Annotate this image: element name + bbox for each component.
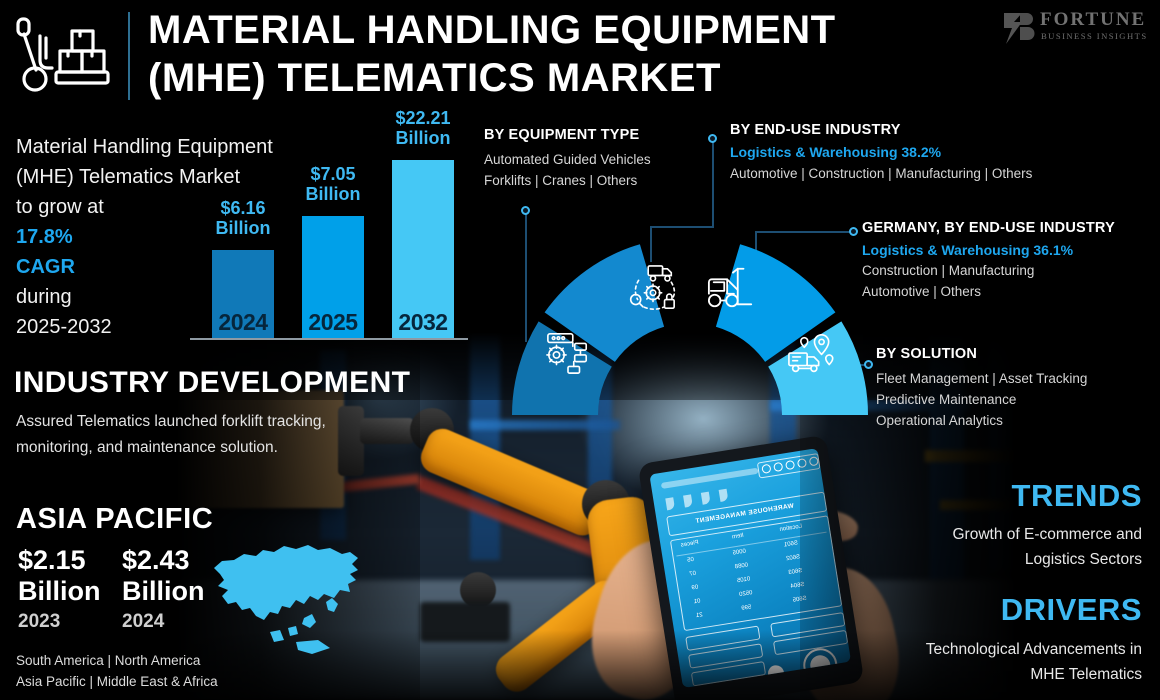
industry-development-body: Assured Telematics launched forklift tra… <box>16 409 396 461</box>
trends-line1: Growth of E-commerce and <box>812 522 1142 547</box>
end-use-leader: Logistics & Warehousing 38.2% <box>730 144 1150 160</box>
trends-line2: Logistics Sectors <box>812 547 1142 572</box>
logo-name: FORTUNE <box>1040 9 1146 31</box>
callout-end-use-industry: BY END-USE INDUSTRY Logistics & Warehous… <box>730 122 1150 184</box>
drivers-line1: Technological Advancements in <box>812 637 1142 662</box>
germany-line1: Construction | Manufacturing <box>862 260 1158 281</box>
solution-line3: Operational Analytics <box>876 410 1156 431</box>
trends-heading: TRENDS <box>1012 478 1142 514</box>
drivers-heading: DRIVERS <box>1001 592 1142 628</box>
segment-arc-graphic <box>495 225 885 425</box>
page-title-line2: (MHE) TELEMATICS MARKET <box>148 54 908 102</box>
asia-pacific-stat-2023: $2.15 Billion <box>18 545 101 607</box>
ap-2023-year: 2023 <box>18 611 60 633</box>
drivers-line2: MHE Telematics <box>812 662 1142 687</box>
regions-line1: South America | North America <box>16 650 218 671</box>
solution-line1: Fleet Management | Asset Tracking <box>876 368 1156 389</box>
ap-2024-amount: $2.43 <box>122 545 205 576</box>
ap-2023-unit: Billion <box>18 576 101 607</box>
solution-line2: Predictive Maintenance <box>876 389 1156 410</box>
page-title-line1: MATERIAL HANDLING EQUIPMENT <box>148 6 908 54</box>
end-use-heading: BY END-USE INDUSTRY <box>730 122 1150 138</box>
germany-heading: GERMANY, BY END-USE INDUSTRY <box>862 220 1158 236</box>
bar-2025: $7.05 Billion 2025 <box>302 216 364 338</box>
callout-germany-end-use: GERMANY, BY END-USE INDUSTRY Logistics &… <box>862 220 1158 302</box>
ap-2024-unit: Billion <box>122 576 205 607</box>
drivers-body: Technological Advancements in MHE Telema… <box>812 637 1142 687</box>
regions-line2: Asia Pacific | Middle East & Africa <box>16 671 218 692</box>
equipment-type-line2: Forklifts | Cranes | Others <box>484 170 714 191</box>
germany-line2: Automotive | Others <box>862 281 1158 302</box>
callout-equipment-type: BY EQUIPMENT TYPE Automated Guided Vehic… <box>484 127 714 191</box>
bar-2024-unit: Billion <box>216 218 271 238</box>
end-use-others: Automotive | Construction | Manufacturin… <box>730 163 1150 184</box>
solution-heading: BY SOLUTION <box>876 346 1156 362</box>
bar-2032: $22.21 Billion 2032 <box>392 160 454 338</box>
asia-pacific-stat-2024: $2.43 Billion <box>122 545 205 607</box>
market-size-bar-chart: $6.16 Billion 2024 $7.05 Billion 2025 $2… <box>190 140 468 340</box>
ap-2024-year: 2024 <box>122 611 164 633</box>
logo-subtitle: BUSINESS INSIGHTS <box>1041 31 1148 41</box>
truck-monitoring-gear-icon <box>627 263 679 318</box>
asia-pacific-heading: ASIA PACIFIC <box>16 503 213 536</box>
infographic-canvas: WAREHOUSE MANAGEMENT Pieces Item Locatio… <box>0 0 1160 700</box>
chart-axis-line <box>190 338 468 340</box>
bar-2032-year: 2032 <box>398 309 447 336</box>
bar-2025-year: 2025 <box>308 309 357 336</box>
industry-development-line1: Assured Telematics launched forklift tra… <box>16 409 396 435</box>
bar-2024-year: 2024 <box>218 309 267 336</box>
asia-pacific-regions: South America | North America Asia Pacif… <box>16 650 218 692</box>
bar-2032-amount: $22.21 <box>395 108 450 128</box>
germany-leader: Logistics & Warehousing 36.1% <box>862 242 1158 258</box>
asia-map-silhouette <box>200 528 380 658</box>
delivery-tracking-location-icon <box>785 330 837 383</box>
callout-solution: BY SOLUTION Fleet Management | Asset Tra… <box>876 346 1156 431</box>
bar-2024: $6.16 Billion 2024 <box>212 250 274 338</box>
trends-body: Growth of E-commerce and Logistics Secto… <box>812 522 1142 572</box>
fortune-business-insights-logo: FORTUNE BUSINESS INSIGHTS <box>998 8 1150 50</box>
server-settings-icon <box>545 330 591 381</box>
industry-development-line2: monitoring, and maintenance solution. <box>16 435 396 461</box>
industry-development-heading: INDUSTRY DEVELOPMENT <box>14 366 410 400</box>
ap-2023-amount: $2.15 <box>18 545 101 576</box>
equipment-type-line1: Automated Guided Vehicles <box>484 149 714 170</box>
forklift-icon <box>703 263 759 318</box>
bar-2032-unit: Billion <box>396 128 451 148</box>
page-title: MATERIAL HANDLING EQUIPMENT (MHE) TELEMA… <box>148 6 908 102</box>
equipment-type-heading: BY EQUIPMENT TYPE <box>484 127 714 143</box>
header-divider <box>128 12 130 100</box>
connector-dot-equipment-type <box>521 206 530 215</box>
bar-2024-amount: $6.16 <box>220 198 265 218</box>
pallet-truck-boxes-icon <box>10 14 122 94</box>
bar-2025-unit: Billion <box>306 184 361 204</box>
bar-2025-amount: $7.05 <box>310 164 355 184</box>
